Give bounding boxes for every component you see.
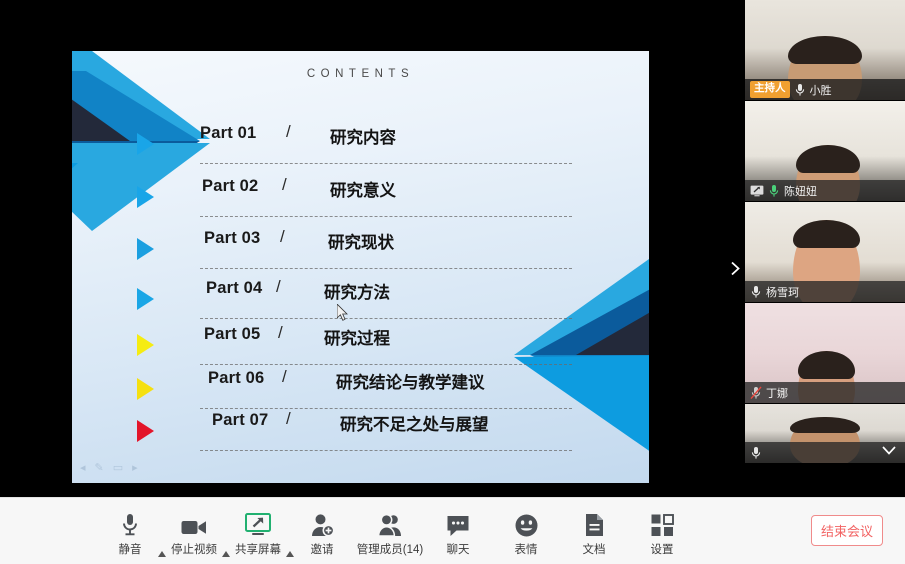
toolbar-document[interactable]: 文档 bbox=[560, 505, 628, 557]
camera-icon bbox=[181, 518, 207, 537]
toolbar-emoji[interactable]: 表情 bbox=[492, 505, 560, 557]
contents-row: Part 05/研究过程 bbox=[200, 325, 572, 365]
participant-tile[interactable]: 杨雪珂 bbox=[745, 202, 905, 302]
row-divider bbox=[200, 318, 572, 319]
microphone-icon bbox=[120, 511, 140, 537]
invite-person-icon bbox=[311, 514, 334, 537]
screen-share-icon bbox=[750, 185, 764, 197]
participant-video-rail[interactable]: 主持人 小胜 陈妞妞 bbox=[745, 0, 905, 564]
toolbar-camera[interactable]: 停止视频 bbox=[160, 505, 228, 557]
row-separator: / bbox=[286, 122, 291, 142]
meeting-toolbar: 静音 停止视频 共享屏幕 邀请 管理成员( bbox=[0, 497, 905, 564]
microphone-icon bbox=[120, 512, 140, 537]
row-part-number: Part 07 bbox=[212, 411, 268, 430]
row-separator: / bbox=[278, 323, 283, 343]
participant-name: 小胜 bbox=[810, 82, 832, 98]
document-icon bbox=[585, 513, 604, 537]
share-screen-icon bbox=[245, 511, 271, 537]
bullet-triangle-icon bbox=[137, 133, 154, 155]
presentation-slide: CONTENTS Part 01/研究内容Part 02/研究意义Part 03… bbox=[72, 51, 649, 483]
contents-row: Part 07/研究不足之处与展望 bbox=[200, 411, 572, 451]
bullet-triangle-icon bbox=[137, 288, 154, 310]
microphone-icon bbox=[750, 285, 762, 299]
bullet-triangle-icon bbox=[137, 420, 154, 442]
toolbar-label: 表情 bbox=[515, 541, 538, 557]
row-divider bbox=[200, 163, 572, 164]
participant-name-bar: 丁娜 bbox=[745, 382, 905, 403]
host-badge: 主持人 bbox=[750, 81, 790, 97]
row-part-number: Part 04 bbox=[206, 279, 262, 298]
slideshow-next-icon[interactable]: ▸ bbox=[132, 461, 138, 474]
document-icon bbox=[585, 511, 604, 537]
toolbar-settings-grid[interactable]: 设置 bbox=[628, 505, 696, 557]
toolbar-label: 停止视频 bbox=[171, 541, 217, 557]
invite-person-icon bbox=[311, 511, 334, 537]
toolbar-label: 静音 bbox=[119, 541, 142, 557]
end-meeting-button[interactable]: 结束会议 bbox=[811, 515, 883, 546]
chevron-right-icon bbox=[730, 261, 741, 276]
row-part-number: Part 02 bbox=[202, 177, 258, 196]
participant-name-bar: 杨雪珂 bbox=[745, 281, 905, 302]
row-title: 研究不足之处与展望 bbox=[340, 411, 489, 435]
row-title: 研究内容 bbox=[330, 124, 396, 148]
toolbar-manage-members[interactable]: 管理成员(14) bbox=[356, 505, 424, 557]
slideshow-menu-icon[interactable]: ▭ bbox=[113, 461, 123, 474]
row-title: 研究意义 bbox=[330, 177, 396, 201]
contents-row: Part 02/研究意义 bbox=[200, 177, 572, 217]
toolbar-items: 静音 停止视频 共享屏幕 邀请 管理成员( bbox=[96, 505, 696, 557]
bullet-triangle-icon bbox=[137, 238, 154, 260]
toolbar-label: 邀请 bbox=[311, 541, 334, 557]
contents-row: Part 01/研究内容 bbox=[200, 124, 572, 164]
manage-members-icon bbox=[378, 511, 402, 537]
manage-members-icon bbox=[378, 514, 402, 537]
collapse-video-rail-button[interactable] bbox=[726, 255, 745, 281]
toolbar-invite-person[interactable]: 邀请 bbox=[288, 505, 356, 557]
toolbar-label: 共享屏幕 bbox=[235, 541, 281, 557]
row-divider bbox=[200, 268, 572, 269]
toolbar-label: 管理成员(14) bbox=[357, 541, 423, 557]
microphone-icon bbox=[768, 184, 780, 198]
slideshow-prev-icon[interactable]: ◂ bbox=[80, 461, 86, 474]
settings-grid-icon bbox=[651, 511, 674, 537]
participant-name: 丁娜 bbox=[766, 385, 788, 401]
row-title: 研究方法 bbox=[324, 279, 390, 303]
row-separator: / bbox=[282, 175, 287, 195]
row-title: 研究过程 bbox=[324, 325, 390, 349]
row-part-number: Part 03 bbox=[204, 229, 260, 248]
emoji-icon bbox=[515, 511, 538, 537]
microphone-muted-icon bbox=[750, 386, 762, 400]
row-divider bbox=[200, 364, 572, 365]
participant-name-bar: 陈妞妞 bbox=[745, 180, 905, 201]
participant-name: 杨雪珂 bbox=[766, 284, 799, 300]
row-separator: / bbox=[276, 277, 281, 297]
contents-row: Part 06/研究结论与教学建议 bbox=[200, 369, 572, 409]
chevron-down-icon bbox=[881, 445, 897, 456]
scroll-down-button[interactable] bbox=[881, 443, 897, 461]
share-screen-icon bbox=[245, 513, 271, 537]
camera-icon bbox=[181, 511, 207, 537]
bullet-triangle-icon bbox=[137, 186, 154, 208]
meeting-window: CONTENTS Part 01/研究内容Part 02/研究意义Part 03… bbox=[0, 0, 905, 564]
contents-row: Part 03/研究现状 bbox=[200, 229, 572, 269]
participant-name: 陈妞妞 bbox=[784, 183, 817, 199]
toolbar-share-screen[interactable]: 共享屏幕 bbox=[224, 505, 292, 557]
microphone-icon bbox=[750, 446, 762, 460]
slideshow-controls[interactable]: ◂ ✎ ▭ ▸ bbox=[80, 461, 138, 474]
bullet-triangle-icon bbox=[137, 334, 154, 356]
microphone-icon bbox=[794, 83, 806, 97]
emoji-icon bbox=[515, 514, 538, 537]
row-title: 研究结论与教学建议 bbox=[336, 369, 485, 393]
chat-icon bbox=[446, 511, 470, 537]
row-separator: / bbox=[282, 367, 287, 387]
toolbar-microphone[interactable]: 静音 bbox=[96, 505, 164, 557]
toolbar-chat[interactable]: 聊天 bbox=[424, 505, 492, 557]
row-part-number: Part 06 bbox=[208, 369, 264, 388]
row-title: 研究现状 bbox=[328, 229, 394, 253]
participant-tile[interactable] bbox=[745, 404, 905, 463]
row-part-number: Part 05 bbox=[204, 325, 260, 344]
row-separator: / bbox=[286, 409, 291, 429]
contents-row: Part 04/研究方法 bbox=[200, 279, 572, 319]
row-divider bbox=[200, 408, 572, 409]
participant-name-bar: 主持人 小胜 bbox=[745, 79, 905, 100]
slideshow-pen-icon[interactable]: ✎ bbox=[95, 461, 104, 474]
row-divider bbox=[200, 216, 572, 217]
bullet-triangle-icon bbox=[137, 378, 154, 400]
row-divider bbox=[200, 450, 572, 451]
toolbar-label: 设置 bbox=[651, 541, 674, 557]
participant-tile[interactable]: 陈妞妞 bbox=[745, 101, 905, 201]
shared-screen-stage: CONTENTS Part 01/研究内容Part 02/研究意义Part 03… bbox=[0, 0, 745, 497]
row-part-number: Part 01 bbox=[200, 124, 256, 143]
settings-grid-icon bbox=[651, 514, 674, 537]
toolbar-label: 聊天 bbox=[447, 541, 470, 557]
chat-icon bbox=[446, 515, 470, 537]
row-separator: / bbox=[280, 227, 285, 247]
toolbar-label: 文档 bbox=[583, 541, 606, 557]
slide-heading: CONTENTS bbox=[72, 68, 649, 80]
participant-tile[interactable]: 主持人 小胜 bbox=[745, 0, 905, 100]
participant-tile[interactable]: 丁娜 bbox=[745, 303, 905, 403]
